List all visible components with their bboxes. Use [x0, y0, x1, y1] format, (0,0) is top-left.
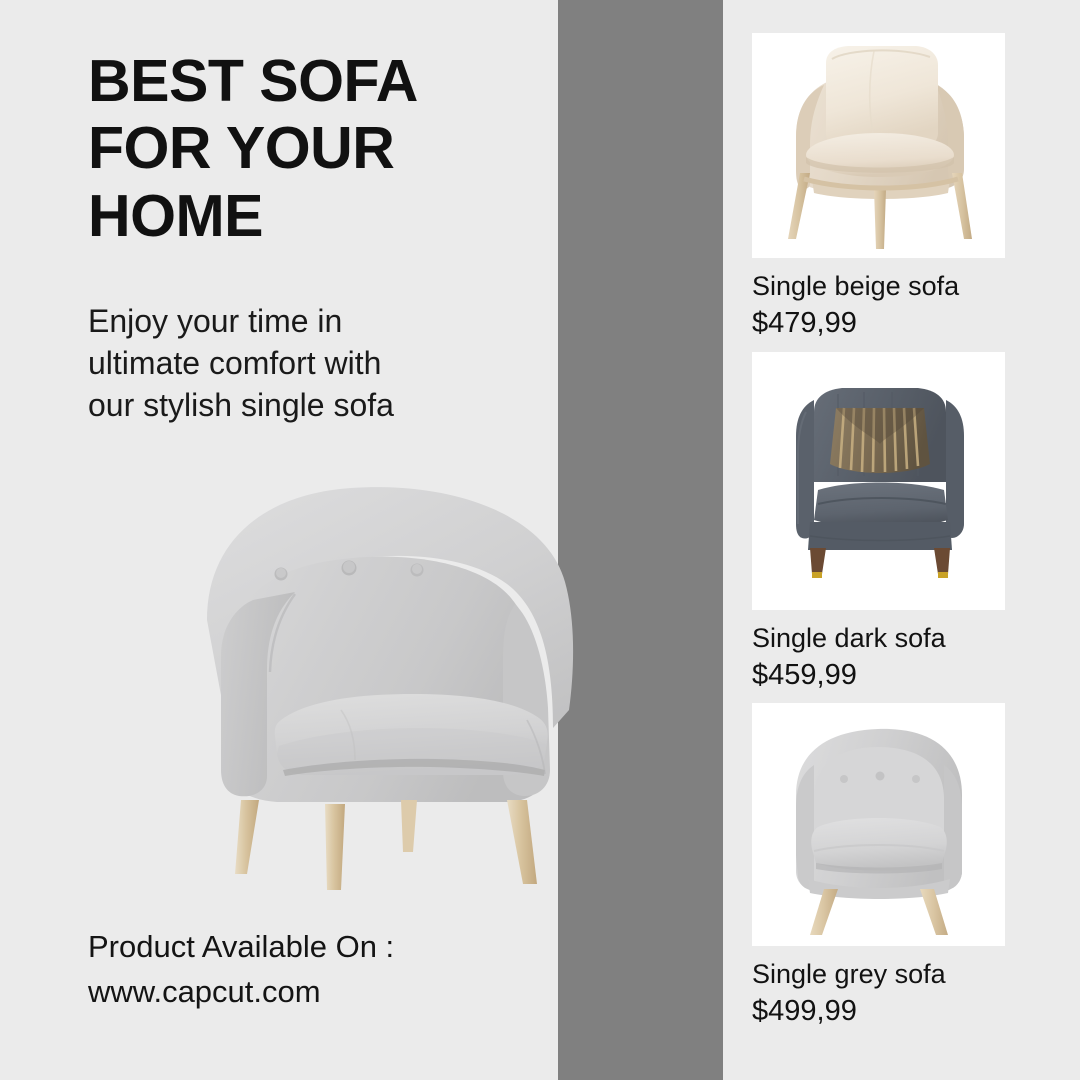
- headline-line-3: HOME: [88, 183, 548, 250]
- product-info: Single dark sofa $459,99: [752, 610, 1005, 694]
- headline-line-2: FOR YOUR: [88, 115, 548, 182]
- sofa-promo-poster: BEST SOFA FOR YOUR HOME Enjoy your time …: [0, 0, 1080, 1080]
- subtitle-line-2: ultimate comfort with: [88, 342, 538, 384]
- list-item[interactable]: Single dark sofa $459,99: [752, 352, 1005, 694]
- grey-tub-armchair-image: [155, 470, 635, 890]
- product-name: Single beige sofa: [752, 270, 1005, 303]
- product-name: Single grey sofa: [752, 958, 1005, 991]
- headline-line-1: BEST SOFA: [88, 48, 548, 115]
- subtitle-line-1: Enjoy your time in: [88, 300, 538, 342]
- product-info: Single beige sofa $479,99: [752, 258, 1005, 342]
- product-list: Single beige sofa $479,99: [723, 0, 1080, 1080]
- product-info: Single grey sofa $499,99: [752, 946, 1005, 1030]
- availability-label: Product Available On :: [88, 925, 548, 970]
- grey-armchair-image: [752, 703, 1005, 946]
- product-price: $499,99: [752, 991, 1005, 1030]
- subtitle: Enjoy your time in ultimate comfort with…: [88, 300, 538, 427]
- product-price: $479,99: [752, 303, 1005, 342]
- subtitle-line-3: our stylish single sofa: [88, 384, 538, 426]
- availability-footer: Product Available On : www.capcut.com: [88, 925, 548, 1015]
- list-item[interactable]: Single grey sofa $499,99: [752, 703, 1005, 1030]
- dark-armchair-image: [752, 352, 1005, 610]
- product-name: Single dark sofa: [752, 622, 1005, 655]
- product-price: $459,99: [752, 655, 1005, 694]
- page-title: BEST SOFA FOR YOUR HOME: [88, 48, 548, 250]
- list-item[interactable]: Single beige sofa $479,99: [752, 33, 1005, 342]
- beige-armchair-image: [752, 33, 1005, 258]
- website-url[interactable]: www.capcut.com: [88, 970, 548, 1015]
